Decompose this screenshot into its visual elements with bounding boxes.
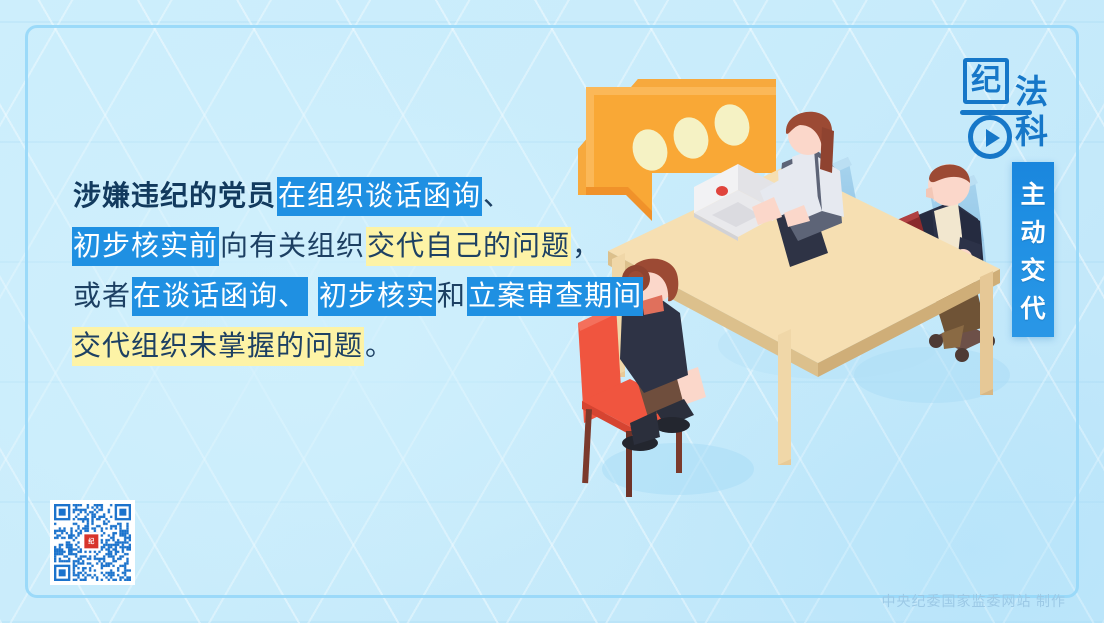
banner-char-3: 交 — [1020, 253, 1045, 291]
headline-line-4: 交代组织未掌握的问题。 — [72, 322, 632, 372]
headline-segment: 在谈话函询、 — [132, 277, 308, 316]
headline-segment: 初步核实 — [318, 277, 436, 316]
headline-segment: 向有关组织 — [219, 227, 366, 266]
headline-line-2: 初步核实前向有关组织交代自己的问题， — [72, 222, 632, 272]
headline-segment: 、 — [482, 177, 513, 216]
headline-line-1: 涉嫌违纪的党员在组织谈话函询、 — [72, 172, 632, 222]
qr-code-image — [54, 504, 131, 581]
logo-char-fa: 法 — [1015, 76, 1048, 110]
credit-line: 中央纪委国家监委网站 制作 — [882, 591, 1067, 611]
headline-segment: ， — [571, 227, 602, 266]
headline-segment: 。 — [364, 327, 395, 366]
headline-segment: 和 — [436, 277, 467, 316]
headline-segment: 初步核实前 — [72, 227, 219, 266]
brand-logo: 纪 法 科 — [963, 58, 1053, 178]
qr-code[interactable] — [50, 500, 135, 585]
logo-char-ke: 科 — [1015, 116, 1048, 150]
banner-char-1: 主 — [1020, 177, 1045, 215]
headline-segment: 立案审查期间 — [467, 277, 643, 316]
vertical-banner-topic: 主 动 交 代 — [1012, 162, 1054, 337]
headline-segment: 交代组织未掌握的问题 — [72, 327, 364, 366]
headline-segment: 在组织谈话函询 — [277, 177, 482, 216]
poster-canvas: 涉嫌违纪的党员在组织谈话函询、 初步核实前向有关组织交代自己的问题， 或者在谈话… — [0, 0, 1104, 623]
headline-segment: 涉嫌违纪的党员 — [72, 177, 277, 216]
headline-segment: 或者 — [72, 277, 132, 316]
headline-line-3: 或者在谈话函询、 初步核实和立案审查期间 — [72, 272, 632, 322]
headline-segment: 交代自己的问题 — [366, 227, 571, 266]
logo-char-ji: 纪 — [963, 58, 1009, 104]
banner-char-4: 代 — [1020, 291, 1045, 329]
banner-char-2: 动 — [1020, 215, 1045, 253]
headline-text-block: 涉嫌违纪的党员在组织谈话函询、 初步核实前向有关组织交代自己的问题， 或者在谈话… — [72, 172, 632, 372]
play-icon — [986, 129, 1000, 147]
headline-segment — [308, 277, 318, 316]
